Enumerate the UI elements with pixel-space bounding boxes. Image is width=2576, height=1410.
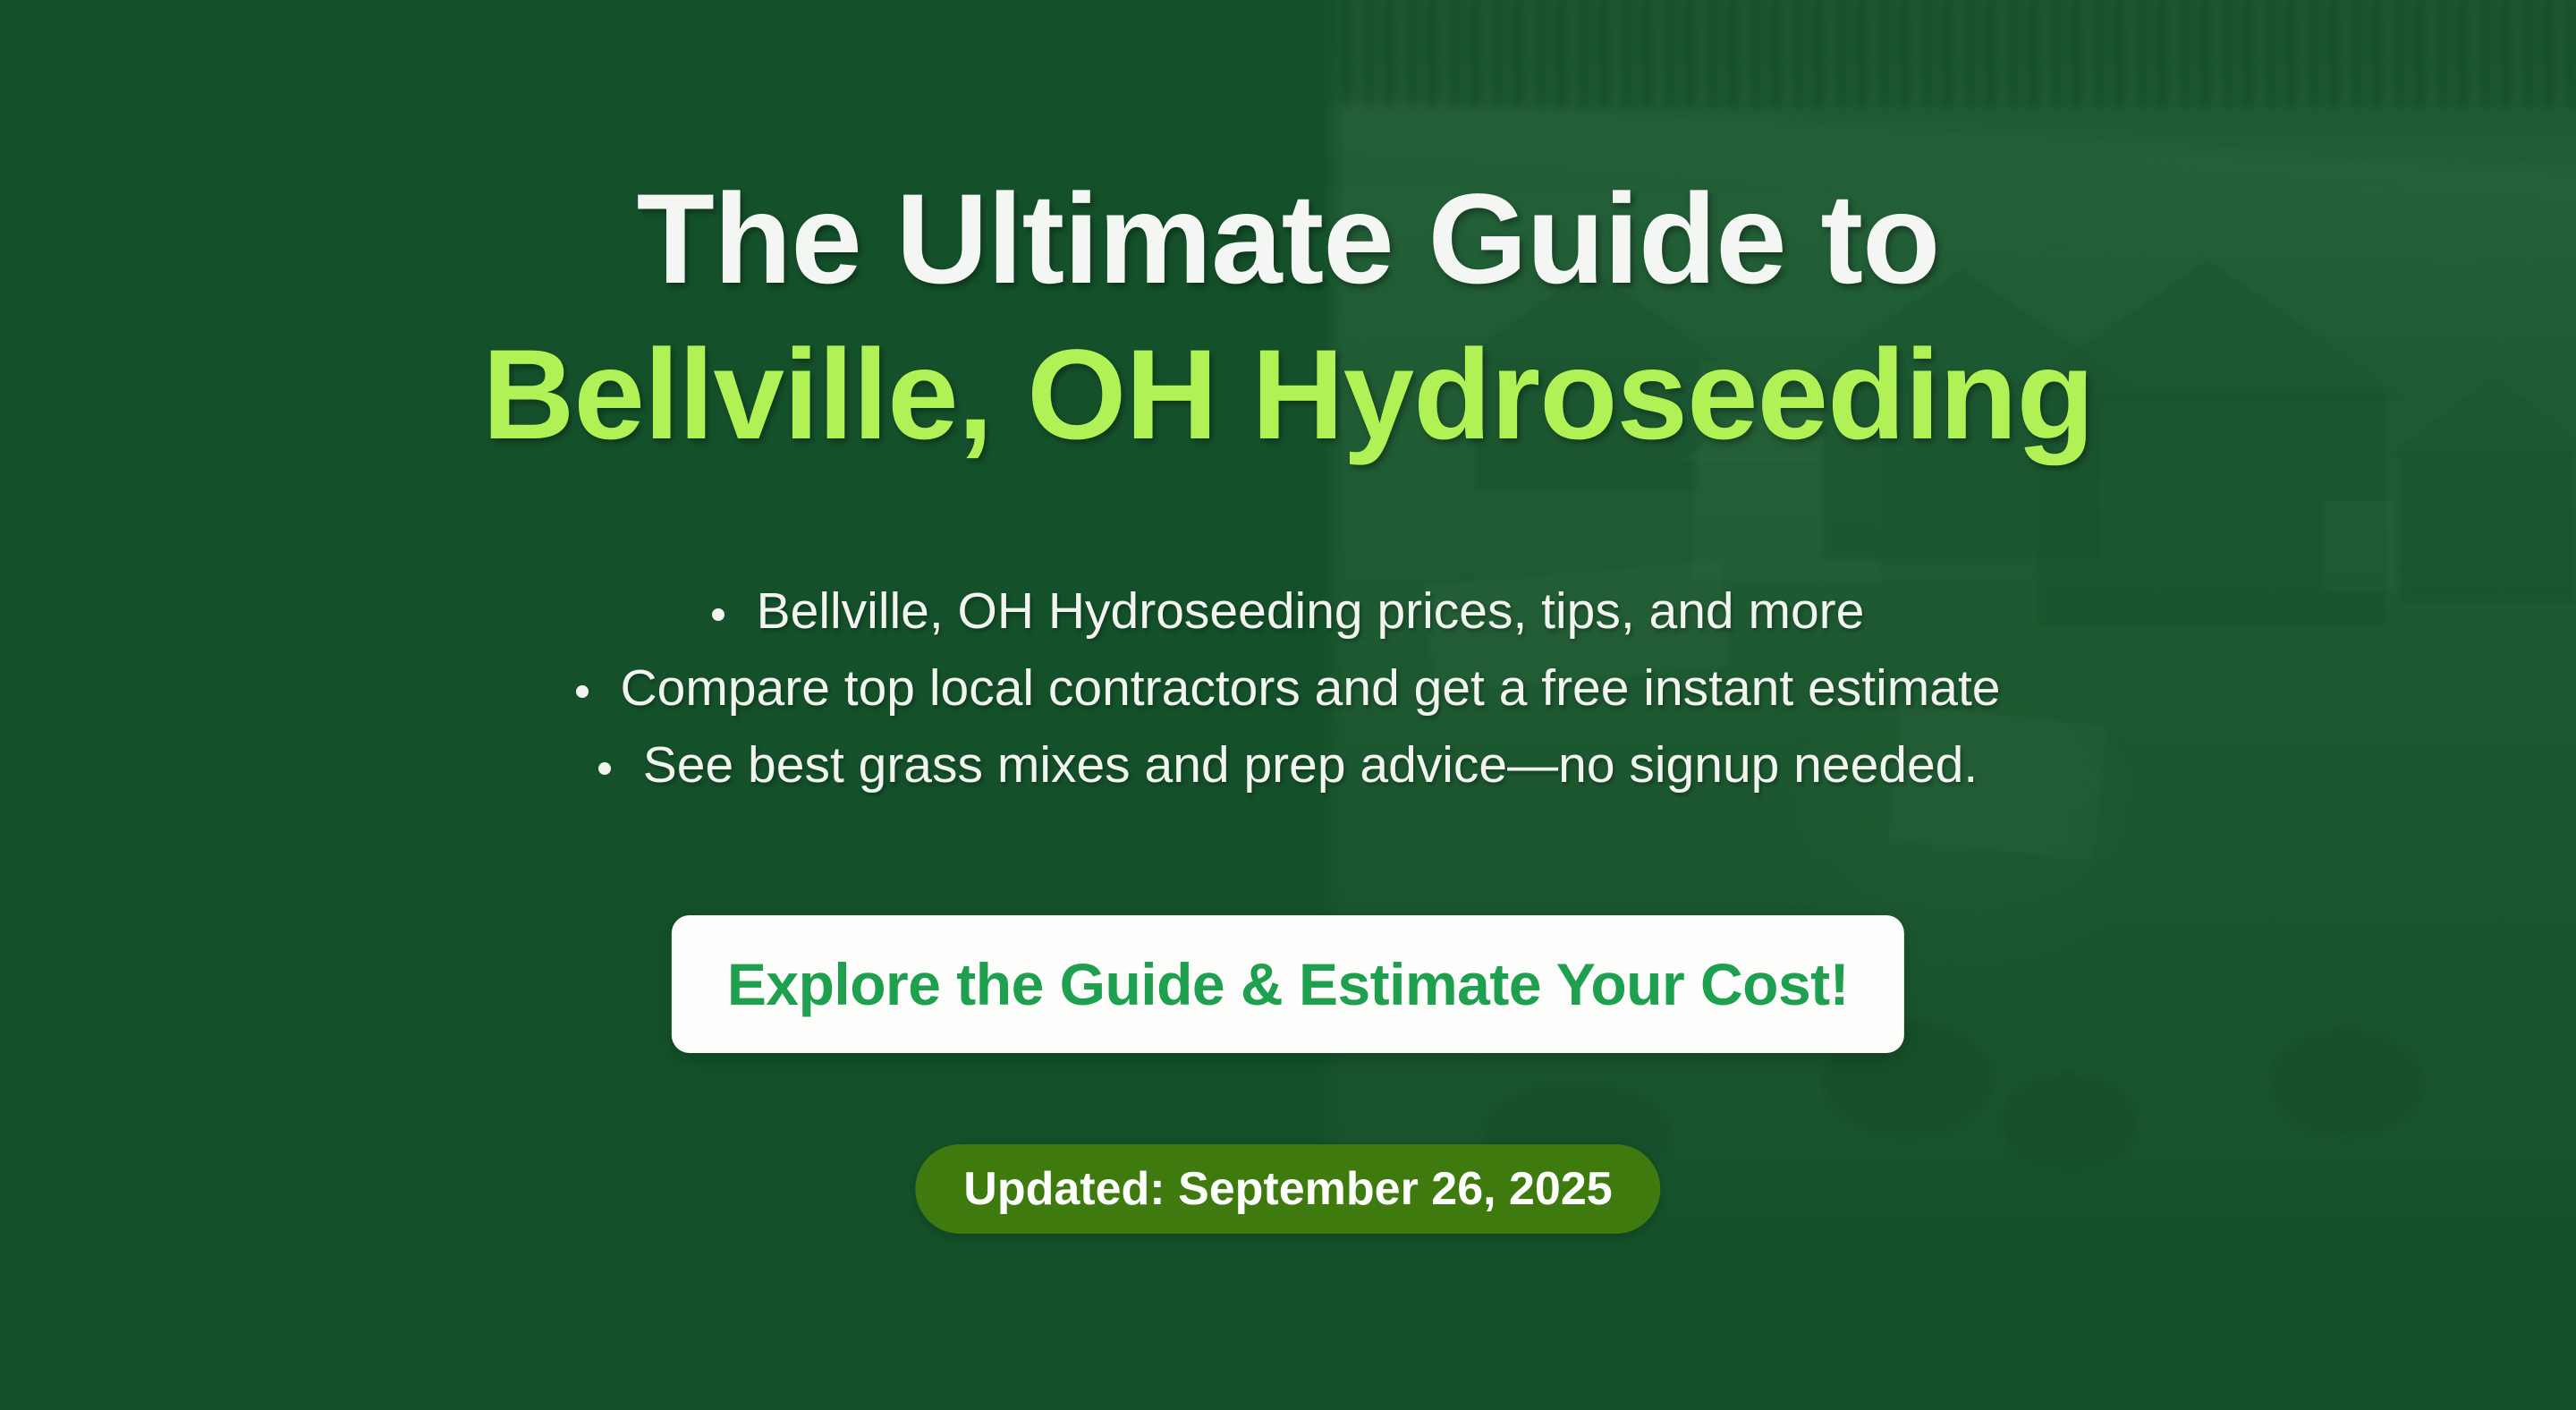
- list-item: Compare top local contractors and get a …: [576, 658, 2001, 718]
- bullet-dot-icon: [576, 685, 589, 698]
- benefits-list: Bellville, OH Hydroseeding prices, tips,…: [0, 582, 2576, 794]
- list-item: Bellville, OH Hydroseeding prices, tips,…: [712, 582, 1865, 641]
- list-item-label: Bellville, OH Hydroseeding prices, tips,…: [757, 582, 1865, 641]
- list-item-label: See best grass mixes and prep advice—no …: [643, 735, 1978, 794]
- last-updated-badge: Updated: September 26, 2025: [915, 1144, 1660, 1234]
- bullet-dot-icon: [712, 608, 724, 621]
- list-item: See best grass mixes and prep advice—no …: [598, 735, 1978, 794]
- page-title: The Ultimate Guide to: [0, 175, 2576, 303]
- page-subtitle: Bellville, OH Hydroseeding: [0, 331, 2576, 459]
- list-item-label: Compare top local contractors and get a …: [621, 658, 2001, 718]
- hero-banner: The Ultimate Guide to Bellville, OH Hydr…: [0, 0, 2576, 1410]
- hero-content: The Ultimate Guide to Bellville, OH Hydr…: [0, 0, 2576, 1410]
- bullet-dot-icon: [598, 762, 611, 775]
- explore-guide-cta-button[interactable]: Explore the Guide & Estimate Your Cost!: [672, 915, 1904, 1053]
